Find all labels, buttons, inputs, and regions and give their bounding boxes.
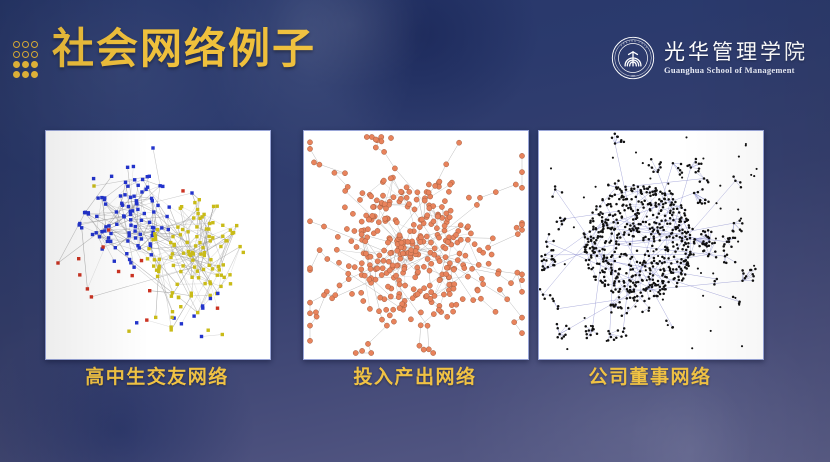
logo-name-en: Guanghua School of Management — [664, 65, 808, 75]
network-graph-2 — [304, 131, 528, 359]
network-figure-board — [538, 130, 764, 360]
svg-text:V: V — [644, 46, 648, 49]
network-graph-1 — [46, 131, 270, 359]
institution-logo: P E K I N G U N I V 1898 光华管理学院 Guanghua… — [611, 36, 808, 80]
network-graph-3 — [539, 131, 763, 359]
slide-title: 社会网络例子 — [52, 28, 316, 70]
figure-caption-2: 投入产出网络 — [303, 368, 527, 387]
peking-university-seal-icon: P E K I N G U N I V 1898 — [611, 36, 655, 80]
slide-canvas: 社会网络例子 P E K I N G — [0, 0, 830, 462]
svg-text:I: I — [629, 40, 631, 43]
svg-text:G: G — [634, 40, 636, 43]
dot-grid-ornament-icon — [13, 41, 39, 80]
svg-text:1898: 1898 — [631, 75, 636, 77]
network-figure-high-school — [45, 130, 271, 360]
svg-text:K: K — [625, 41, 628, 45]
network-figure-input-output — [303, 130, 529, 360]
svg-text:N: N — [631, 40, 633, 43]
figure-caption-1: 高中生交友网络 — [45, 368, 269, 387]
logo-name-cn: 光华管理学院 — [664, 41, 808, 63]
slide-header: 社会网络例子 P E K I N G — [0, 0, 830, 104]
svg-text:N: N — [640, 42, 643, 46]
figure-caption-3: 公司董事网络 — [538, 368, 762, 387]
